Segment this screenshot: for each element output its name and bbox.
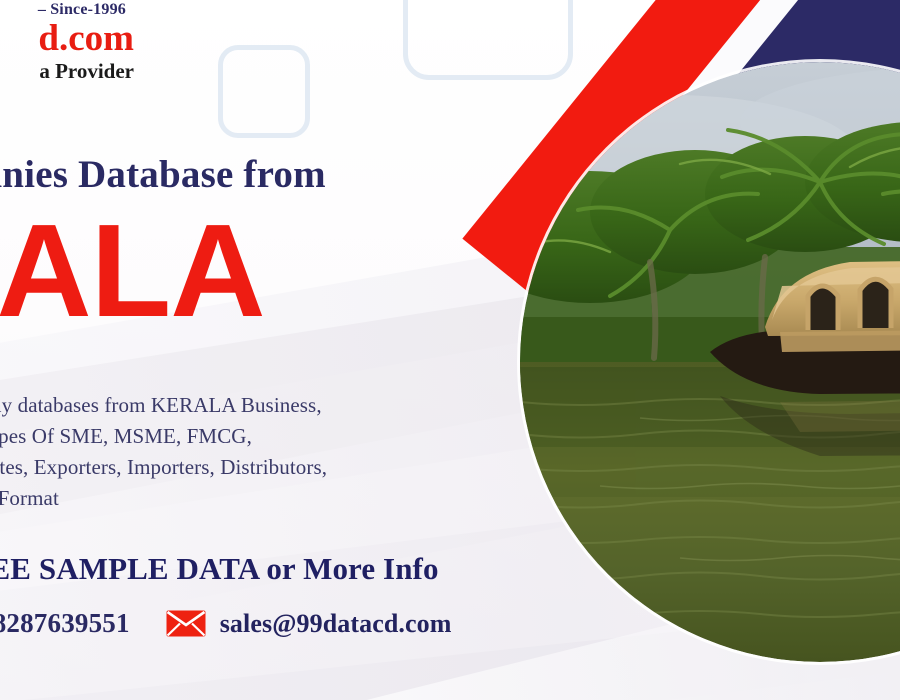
contact-row: 4924, 8287639551 sales@99datacd.com <box>0 608 644 639</box>
state-name-title: RALA <box>0 205 522 337</box>
logo-since-text: – Since-1996 <box>0 2 134 18</box>
promo-poster: – Since-1996 d.com a Provider mpanies Da… <box>0 0 900 700</box>
phone-number[interactable]: 4924, 8287639551 <box>0 608 130 639</box>
company-logo[interactable]: – Since-1996 d.com a Provider <box>0 2 134 82</box>
rounded-rect-outline-decor <box>403 0 573 80</box>
body-copy-line: ompany databases from KERALA Business, <box>0 390 564 421</box>
logo-tagline-text: a Provider <box>0 61 134 82</box>
email-address[interactable]: sales@99datacd.com <box>220 609 452 639</box>
rounded-square-outline-decor <box>218 45 310 138</box>
body-copy-line: orporates, Exporters, Importers, Distrib… <box>0 452 564 483</box>
cta-text: FREE SAMPLE DATA or More Info <box>0 551 628 587</box>
headline: mpanies Database from <box>0 152 488 197</box>
logo-name-text: d.com <box>0 20 134 59</box>
body-copy-line: Excel Format <box>0 483 564 514</box>
body-copy-line: All Types Of SME, MSME, FMCG, <box>0 421 564 452</box>
envelope-icon <box>166 610 206 637</box>
body-copy: ompany databases from KERALA Business, A… <box>0 390 564 514</box>
